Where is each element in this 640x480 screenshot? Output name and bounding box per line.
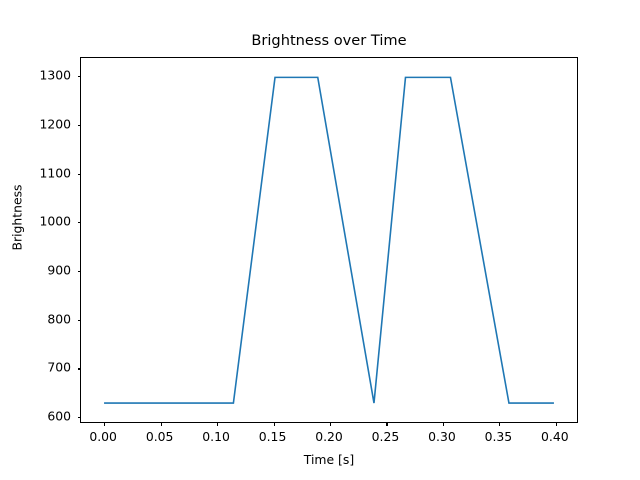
x-tick-mark	[330, 422, 331, 426]
y-tick-label: 1100	[39, 165, 71, 180]
x-tick-mark	[556, 422, 557, 426]
y-tick-mark	[78, 417, 82, 418]
y-tick-mark	[78, 271, 82, 272]
y-tick-mark	[78, 222, 82, 223]
x-tick-label: 0.20	[315, 429, 343, 444]
y-tick-label: 800	[47, 311, 71, 326]
x-tick-label: 0.00	[89, 429, 117, 444]
y-tick-label: 1200	[39, 116, 71, 131]
y-tick-label: 700	[47, 360, 71, 375]
x-tick-label: 0.25	[372, 429, 400, 444]
y-tick-label: 1000	[39, 214, 71, 229]
x-tick-mark	[161, 422, 162, 426]
x-tick-mark	[217, 422, 218, 426]
x-tick-label: 0.30	[428, 429, 456, 444]
data-line-svg	[81, 58, 577, 422]
y-tick-mark	[78, 174, 82, 175]
y-tick-label: 600	[47, 409, 71, 424]
y-tick-label: 900	[47, 262, 71, 277]
x-tick-mark	[274, 422, 275, 426]
x-tick-label: 0.15	[259, 429, 287, 444]
brightness-line-series	[104, 77, 554, 403]
x-tick-label: 0.35	[485, 429, 513, 444]
y-tick-mark	[78, 320, 82, 321]
x-axis-label: Time [s]	[80, 452, 578, 467]
y-axis-tick-labels: 6007008009001000110012001300	[0, 57, 71, 423]
chart-title: Brightness over Time	[80, 32, 578, 49]
x-tick-label: 0.40	[541, 429, 569, 444]
x-tick-label: 0.10	[202, 429, 230, 444]
x-tick-mark	[499, 422, 500, 426]
y-tick-mark	[78, 125, 82, 126]
x-tick-mark	[386, 422, 387, 426]
y-tick-label: 1300	[39, 68, 71, 83]
matplotlib-figure: Brightness over Time Brightness 60070080…	[0, 0, 640, 480]
y-tick-mark	[78, 76, 82, 77]
x-tick-label: 0.05	[146, 429, 174, 444]
x-axis-tick-labels: 0.000.050.100.150.200.250.300.350.40	[80, 429, 578, 447]
x-tick-mark	[104, 422, 105, 426]
y-tick-mark	[78, 368, 82, 369]
plot-area	[80, 57, 578, 423]
x-tick-mark	[443, 422, 444, 426]
